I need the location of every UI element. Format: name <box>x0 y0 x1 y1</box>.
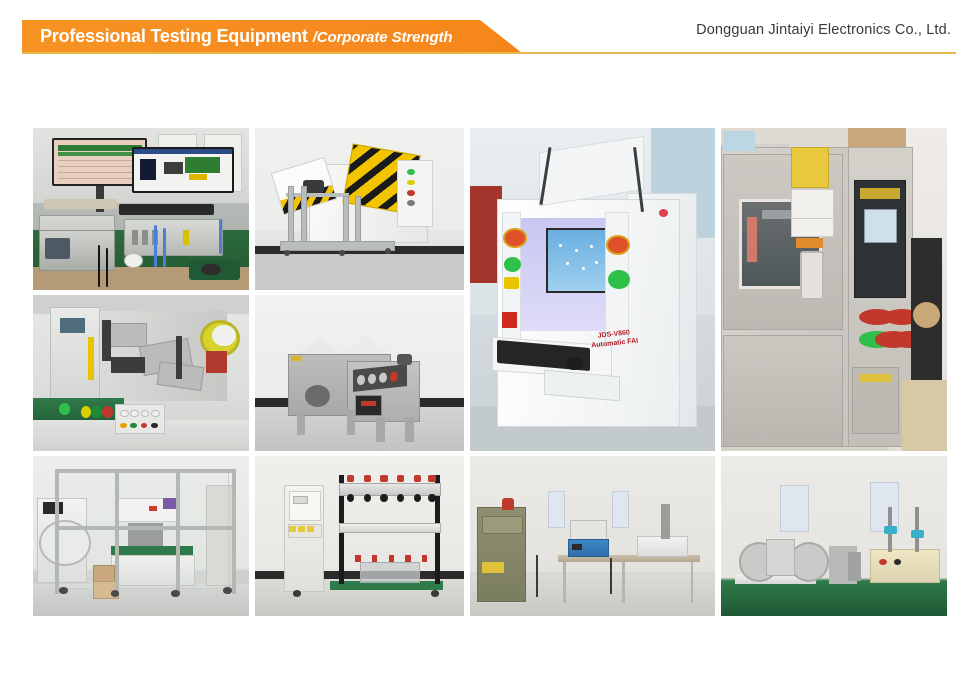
gallery-photo-temperature-humidity-chamber[interactable] <box>721 128 947 451</box>
photo-lab-test-bench-image <box>33 128 249 290</box>
photo-drop-tumble-tester-image <box>255 128 464 290</box>
page-header: Professional Testing Equipment/Corporate… <box>0 0 978 72</box>
gallery-photo-lab-test-bench[interactable] <box>33 128 249 290</box>
banner: Professional Testing Equipment/Corporate… <box>22 20 522 53</box>
photo-automatic-fai-machine-image: JDS-V860 Automatic FAI <box>470 128 715 451</box>
photo-tape-pull-testers-image <box>721 456 947 616</box>
banner-text: Professional Testing Equipment/Corporate… <box>40 20 452 53</box>
photo-temperature-humidity-chamber-image <box>721 128 947 451</box>
equipment-photo-gallery: JDS-V860 Automatic FAI <box>33 128 945 622</box>
gallery-photo-tape-pull-testers[interactable] <box>721 456 947 616</box>
photo-salt-spray-chamber-image <box>255 295 464 451</box>
banner-subtitle: /Corporate Strength <box>313 29 453 46</box>
photo-clean-booth-station-image <box>33 456 249 616</box>
gallery-photo-lab-bench-testers[interactable] <box>470 456 715 616</box>
photo-lab-bench-testers-image <box>470 456 715 616</box>
gallery-photo-cable-swing-tester[interactable] <box>255 456 464 616</box>
gallery-photo-automated-assembly-line[interactable] <box>33 295 249 451</box>
photo-cable-swing-tester-image <box>255 456 464 616</box>
company-name: Dongguan Jintaiyi Electronics Co., Ltd. <box>696 22 951 38</box>
gallery-photo-automatic-fai-machine[interactable]: JDS-V860 Automatic FAI <box>470 128 715 451</box>
banner-title: Professional Testing Equipment <box>40 26 308 46</box>
gallery-photo-salt-spray-chamber[interactable] <box>255 295 464 451</box>
gallery-photo-drop-tumble-tester[interactable] <box>255 128 464 290</box>
gallery-photo-clean-booth-station[interactable] <box>33 456 249 616</box>
header-divider-rule <box>22 52 956 54</box>
photo-automated-assembly-line-image <box>33 295 249 451</box>
